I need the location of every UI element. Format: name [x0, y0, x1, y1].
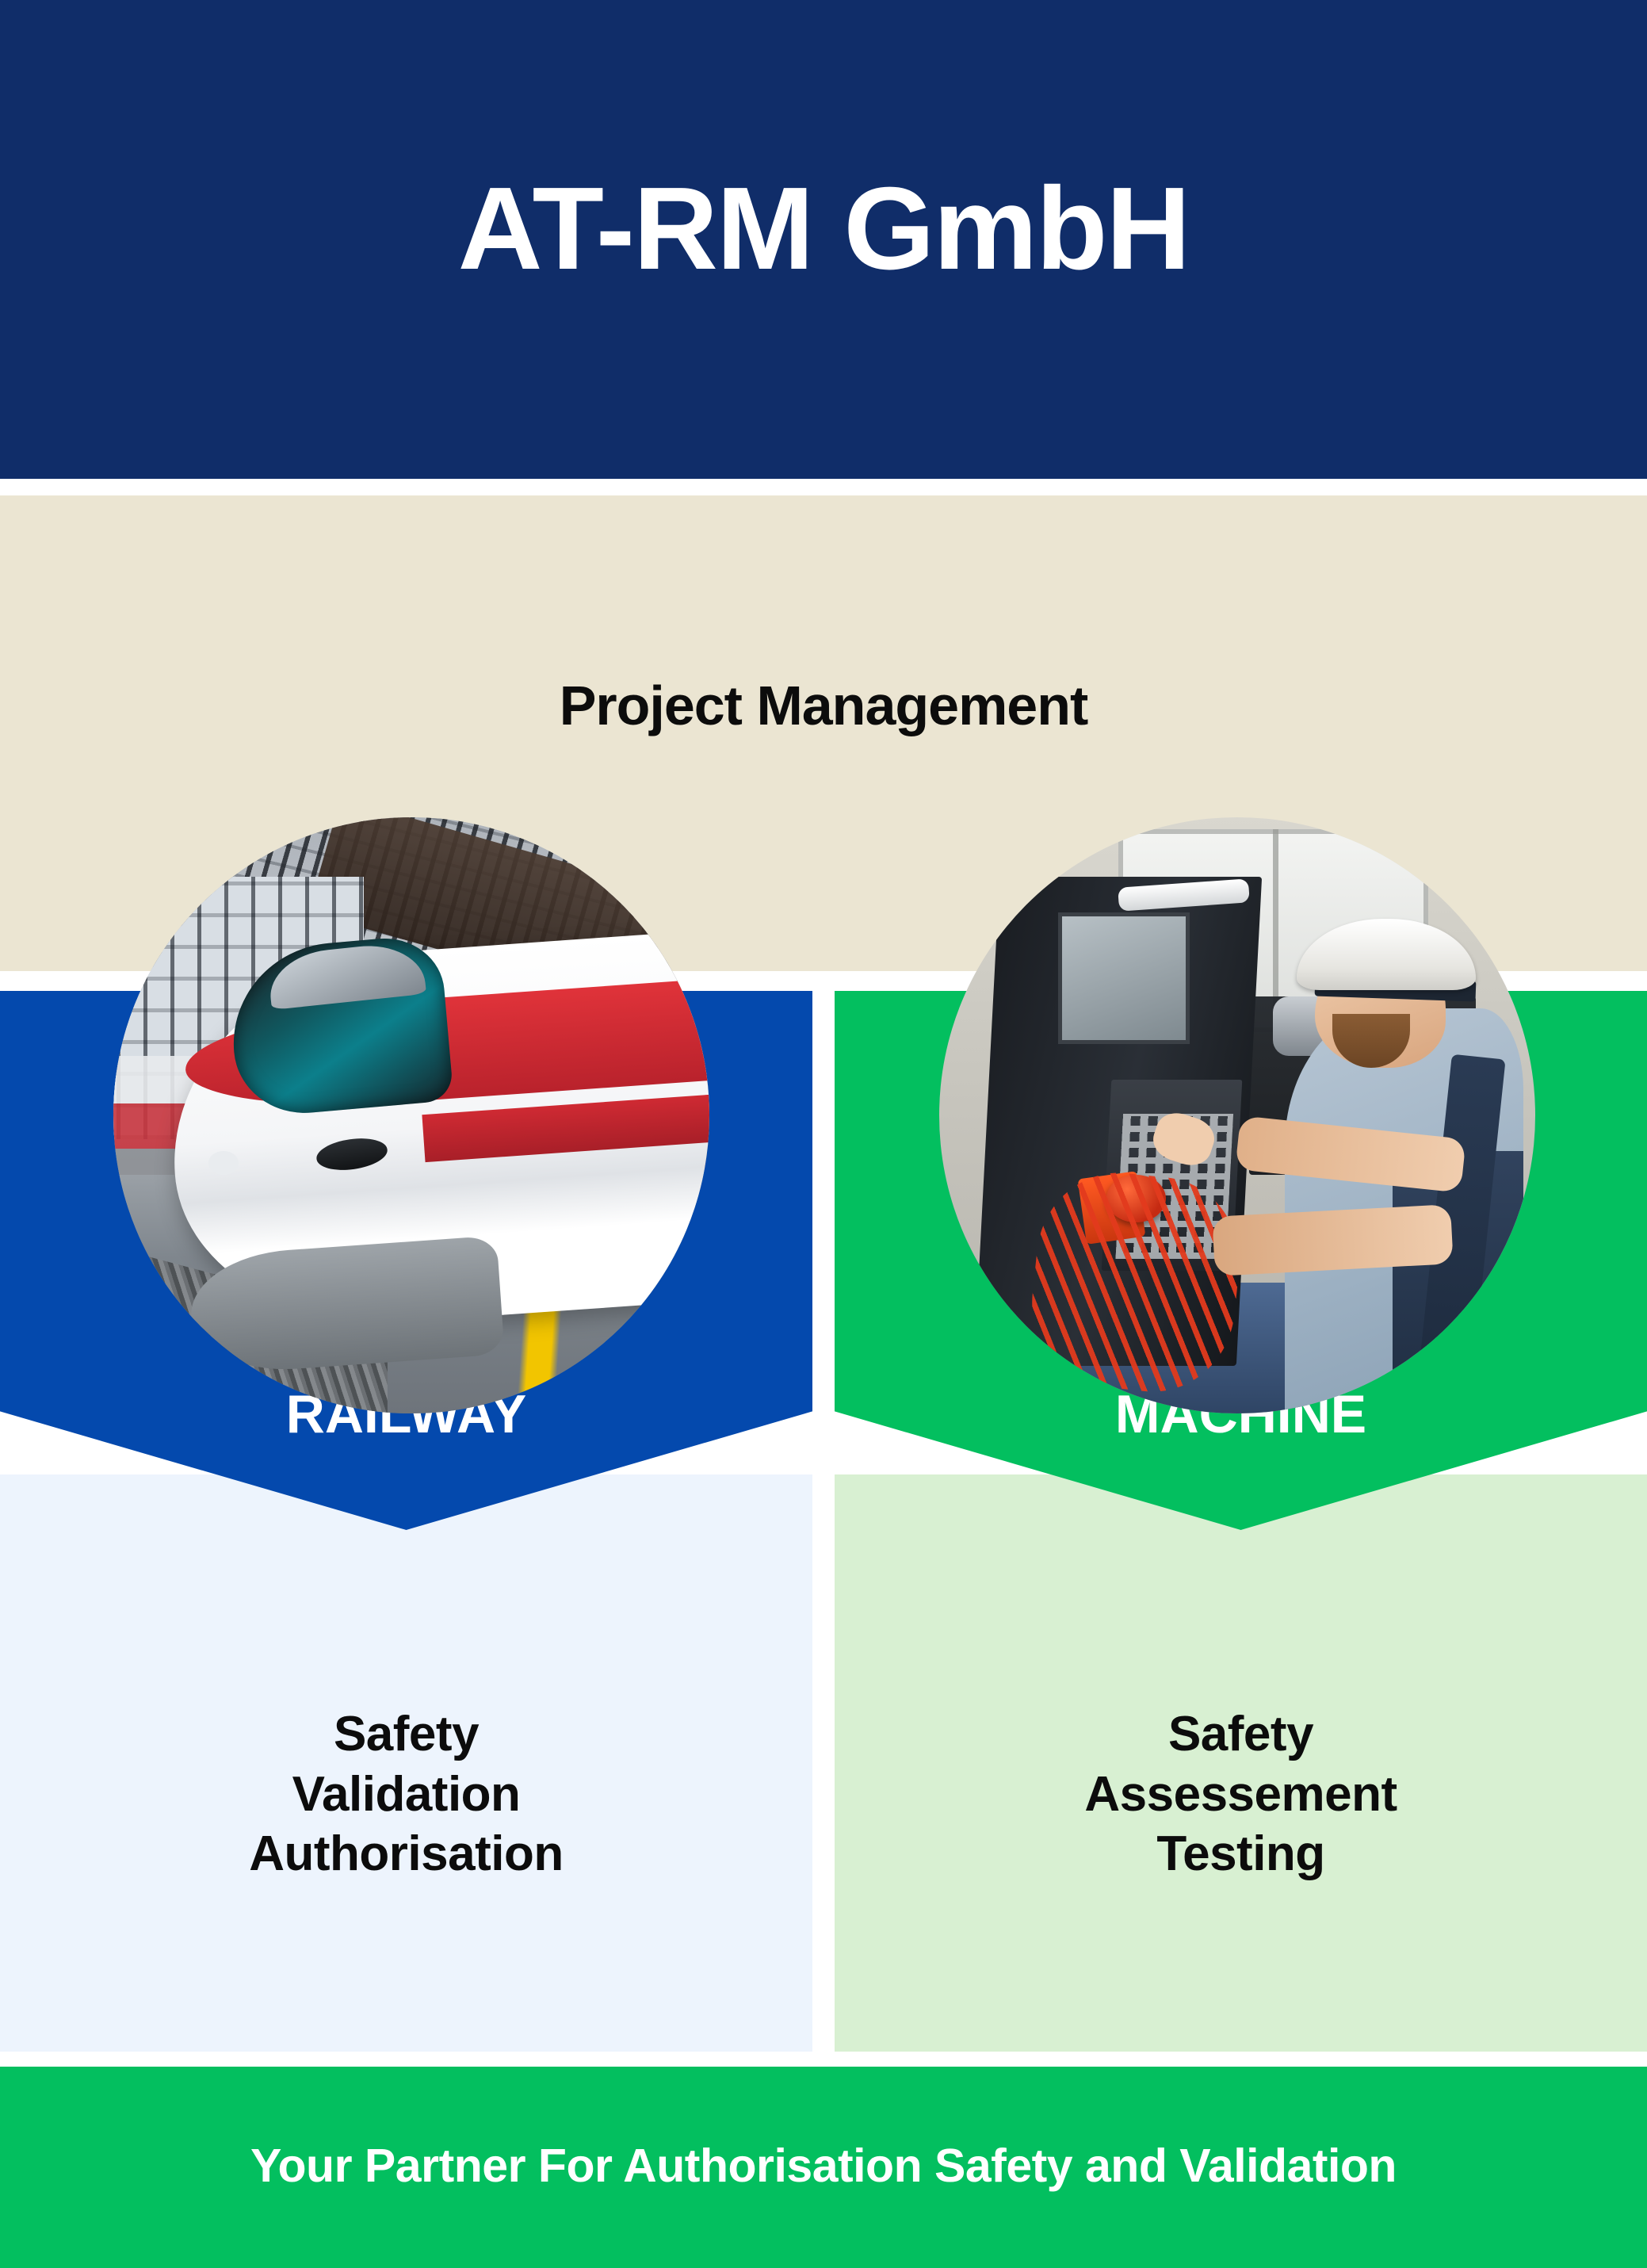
machine-services-list: Safety Assessement Testing — [835, 1704, 1647, 1884]
cnc-display-screen — [1058, 912, 1189, 1043]
company-title: AT-RM GmbH — [458, 170, 1190, 308]
machine-service-item: Safety — [835, 1704, 1647, 1765]
footer-tagline: Your Partner For Authorisation Safety an… — [250, 2143, 1397, 2193]
railway-services-panel: Safety Validation Authorisation — [0, 1474, 812, 2052]
machine-service-item: Assessement — [835, 1765, 1647, 1825]
railway-services-list: Safety Validation Authorisation — [0, 1704, 812, 1884]
footer-banner: Your Partner For Authorisation Safety an… — [0, 2067, 1647, 2268]
train-at-station-photo — [113, 817, 709, 1413]
railway-service-item: Safety — [0, 1704, 812, 1765]
machine-service-item: Testing — [835, 1824, 1647, 1884]
train-photo-art — [113, 817, 709, 1413]
train-headlight-small — [208, 1151, 239, 1175]
machine-photo-art — [939, 817, 1535, 1413]
header-banner: AT-RM GmbH — [0, 0, 1647, 479]
railway-service-item: Authorisation — [0, 1824, 812, 1884]
project-management-title: Project Management — [0, 678, 1647, 733]
machine-services-panel: Safety Assessement Testing — [835, 1474, 1647, 2052]
railway-service-item: Validation — [0, 1765, 812, 1825]
machine-operator-photo — [939, 817, 1535, 1413]
